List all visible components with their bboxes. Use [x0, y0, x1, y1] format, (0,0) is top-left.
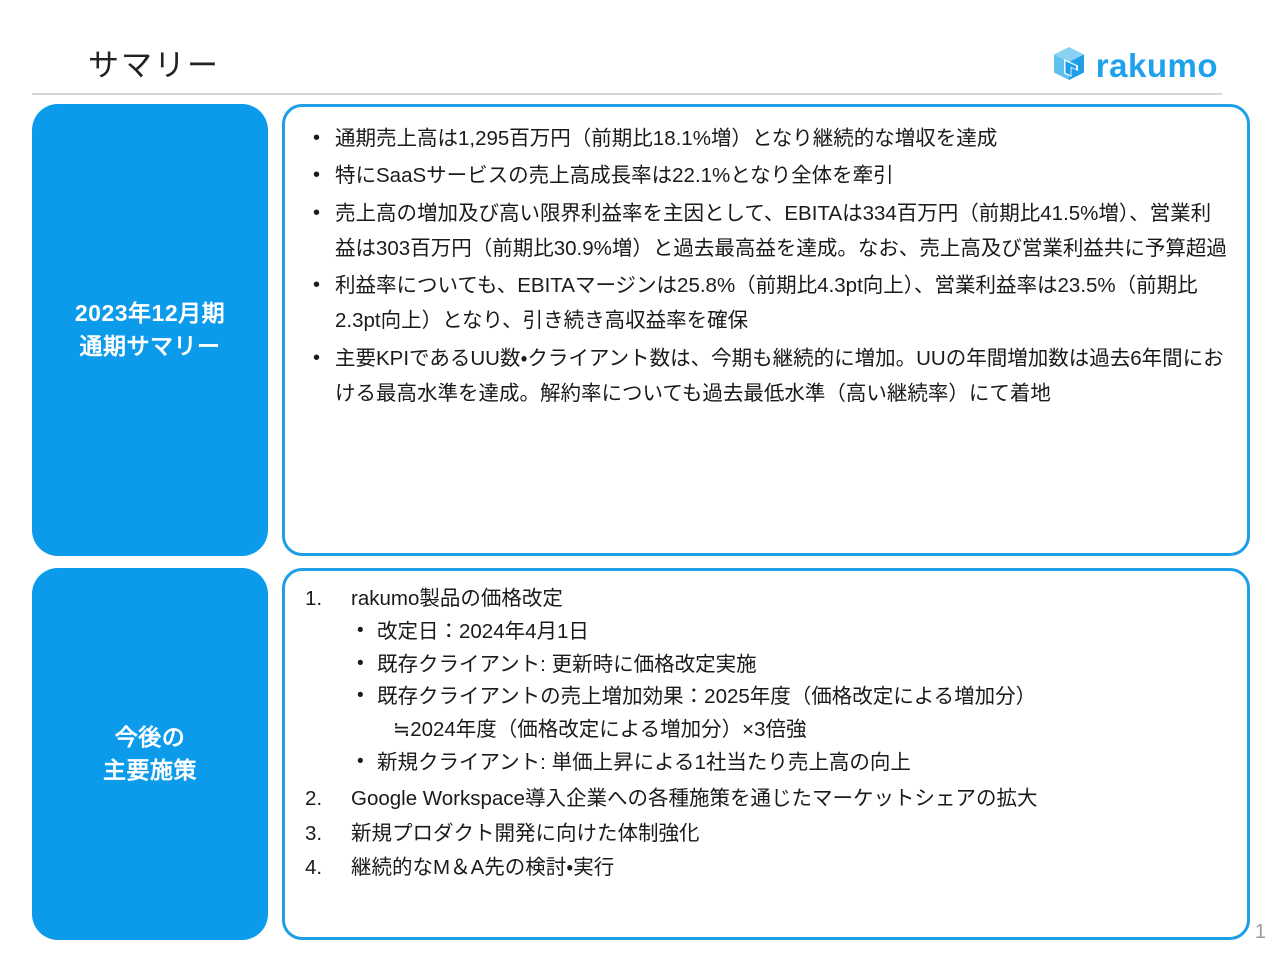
header-divider — [32, 93, 1222, 95]
measures-numbered-list: 1. rakumo製品の価格改定 改定日：2024年4月1日 既存クライアント:… — [301, 583, 1229, 884]
section-label-summary: 2023年12月期 通期サマリー — [32, 104, 268, 556]
list-item: 2. Google Workspace導入企業への各種施策を通じたマーケットシェ… — [301, 783, 1229, 815]
section-measures: 今後の 主要施策 1. rakumo製品の価格改定 改定日：2024年4月1日 … — [0, 568, 1280, 940]
sub-list-item-continuation: ≒2024年度（価格改定による増加分）×3倍強 — [377, 714, 1229, 747]
rakumo-cube-icon — [1052, 46, 1086, 82]
brand-wordmark: rakumo — [1096, 49, 1218, 82]
section-summary: 2023年12月期 通期サマリー 通期売上高は1,295百万円（前期比18.1%… — [0, 104, 1280, 556]
sub-list-item-text: 改定日：2024年4月1日 — [377, 620, 589, 643]
list-item: 特にSaaSサービスの売上高成長率は22.1%となり全体を牽引 — [307, 158, 1229, 193]
list-item-number: 1. — [305, 583, 339, 615]
section-label-summary-line1: 2023年12月期 — [75, 297, 225, 330]
section-label-measures-line1: 今後の — [103, 721, 197, 754]
sub-list-item: 既存クライアント: 更新時に価格改定実施 — [351, 649, 1229, 682]
list-item: 売上高の増加及び高い限界利益率を主因として、EBITAは334百万円（前期比41… — [307, 196, 1229, 267]
summary-bullet-list: 通期売上高は1,295百万円（前期比18.1%増）となり継続的な増収を達成 特に… — [307, 121, 1229, 411]
sub-list-item: 既存クライアントの売上増加効果：2025年度（価格改定による増加分） ≒2024… — [351, 681, 1229, 747]
list-item-text: rakumo製品の価格改定 — [351, 587, 563, 610]
list-item: 通期売上高は1,295百万円（前期比18.1%増）となり継続的な増収を達成 — [307, 121, 1229, 156]
section-label-measures-line2: 主要施策 — [103, 754, 197, 787]
list-item-number: 4. — [305, 852, 339, 884]
page-title: サマリー — [88, 40, 220, 85]
list-item-number: 2. — [305, 783, 339, 815]
slide-header: サマリー rakumo — [0, 0, 1280, 96]
list-item: 4. 継続的なM＆A先の検討・実行 — [301, 852, 1229, 884]
sub-list-item: 新規クライアント: 単価上昇による1社当たり売上高の向上 — [351, 747, 1229, 780]
list-item-text: Google Workspace導入企業への各種施策を通じたマーケットシェアの拡… — [351, 787, 1037, 810]
list-item-text: 新規プロダクト開発に向けた体制強化 — [351, 822, 700, 845]
list-item: 主要KPIであるUU数・クライアント数は、今期も継続的に増加。UUの年間増加数は… — [307, 341, 1229, 412]
list-item: 3. 新規プロダクト開発に向けた体制強化 — [301, 818, 1229, 850]
section-label-measures: 今後の 主要施策 — [32, 568, 268, 940]
list-item-number: 3. — [305, 818, 339, 850]
sub-bullet-list: 改定日：2024年4月1日 既存クライアント: 更新時に価格改定実施 既存クライ… — [351, 616, 1229, 780]
sub-list-item-text: 既存クライアント: 更新時に価格改定実施 — [377, 653, 757, 676]
sub-list-item: 改定日：2024年4月1日 — [351, 616, 1229, 649]
page-number: 1 — [1255, 921, 1266, 944]
list-item-text: 継続的なM＆A先の検討・実行 — [351, 856, 614, 879]
section-label-summary-line2: 通期サマリー — [75, 330, 225, 363]
section-body-summary: 通期売上高は1,295百万円（前期比18.1%増）となり継続的な増収を達成 特に… — [282, 104, 1250, 556]
list-item: 利益率についても、EBITAマージンは25.8%（前期比4.3pt向上）、営業利… — [307, 268, 1229, 339]
brand-logo: rakumo — [1052, 42, 1218, 86]
sub-list-item-text: 既存クライアントの売上増加効果：2025年度（価格改定による増加分） — [377, 685, 1036, 708]
section-body-measures: 1. rakumo製品の価格改定 改定日：2024年4月1日 既存クライアント:… — [282, 568, 1250, 940]
list-item: 1. rakumo製品の価格改定 改定日：2024年4月1日 既存クライアント:… — [301, 583, 1229, 780]
sub-list-item-text: 新規クライアント: 単価上昇による1社当たり売上高の向上 — [377, 751, 911, 774]
